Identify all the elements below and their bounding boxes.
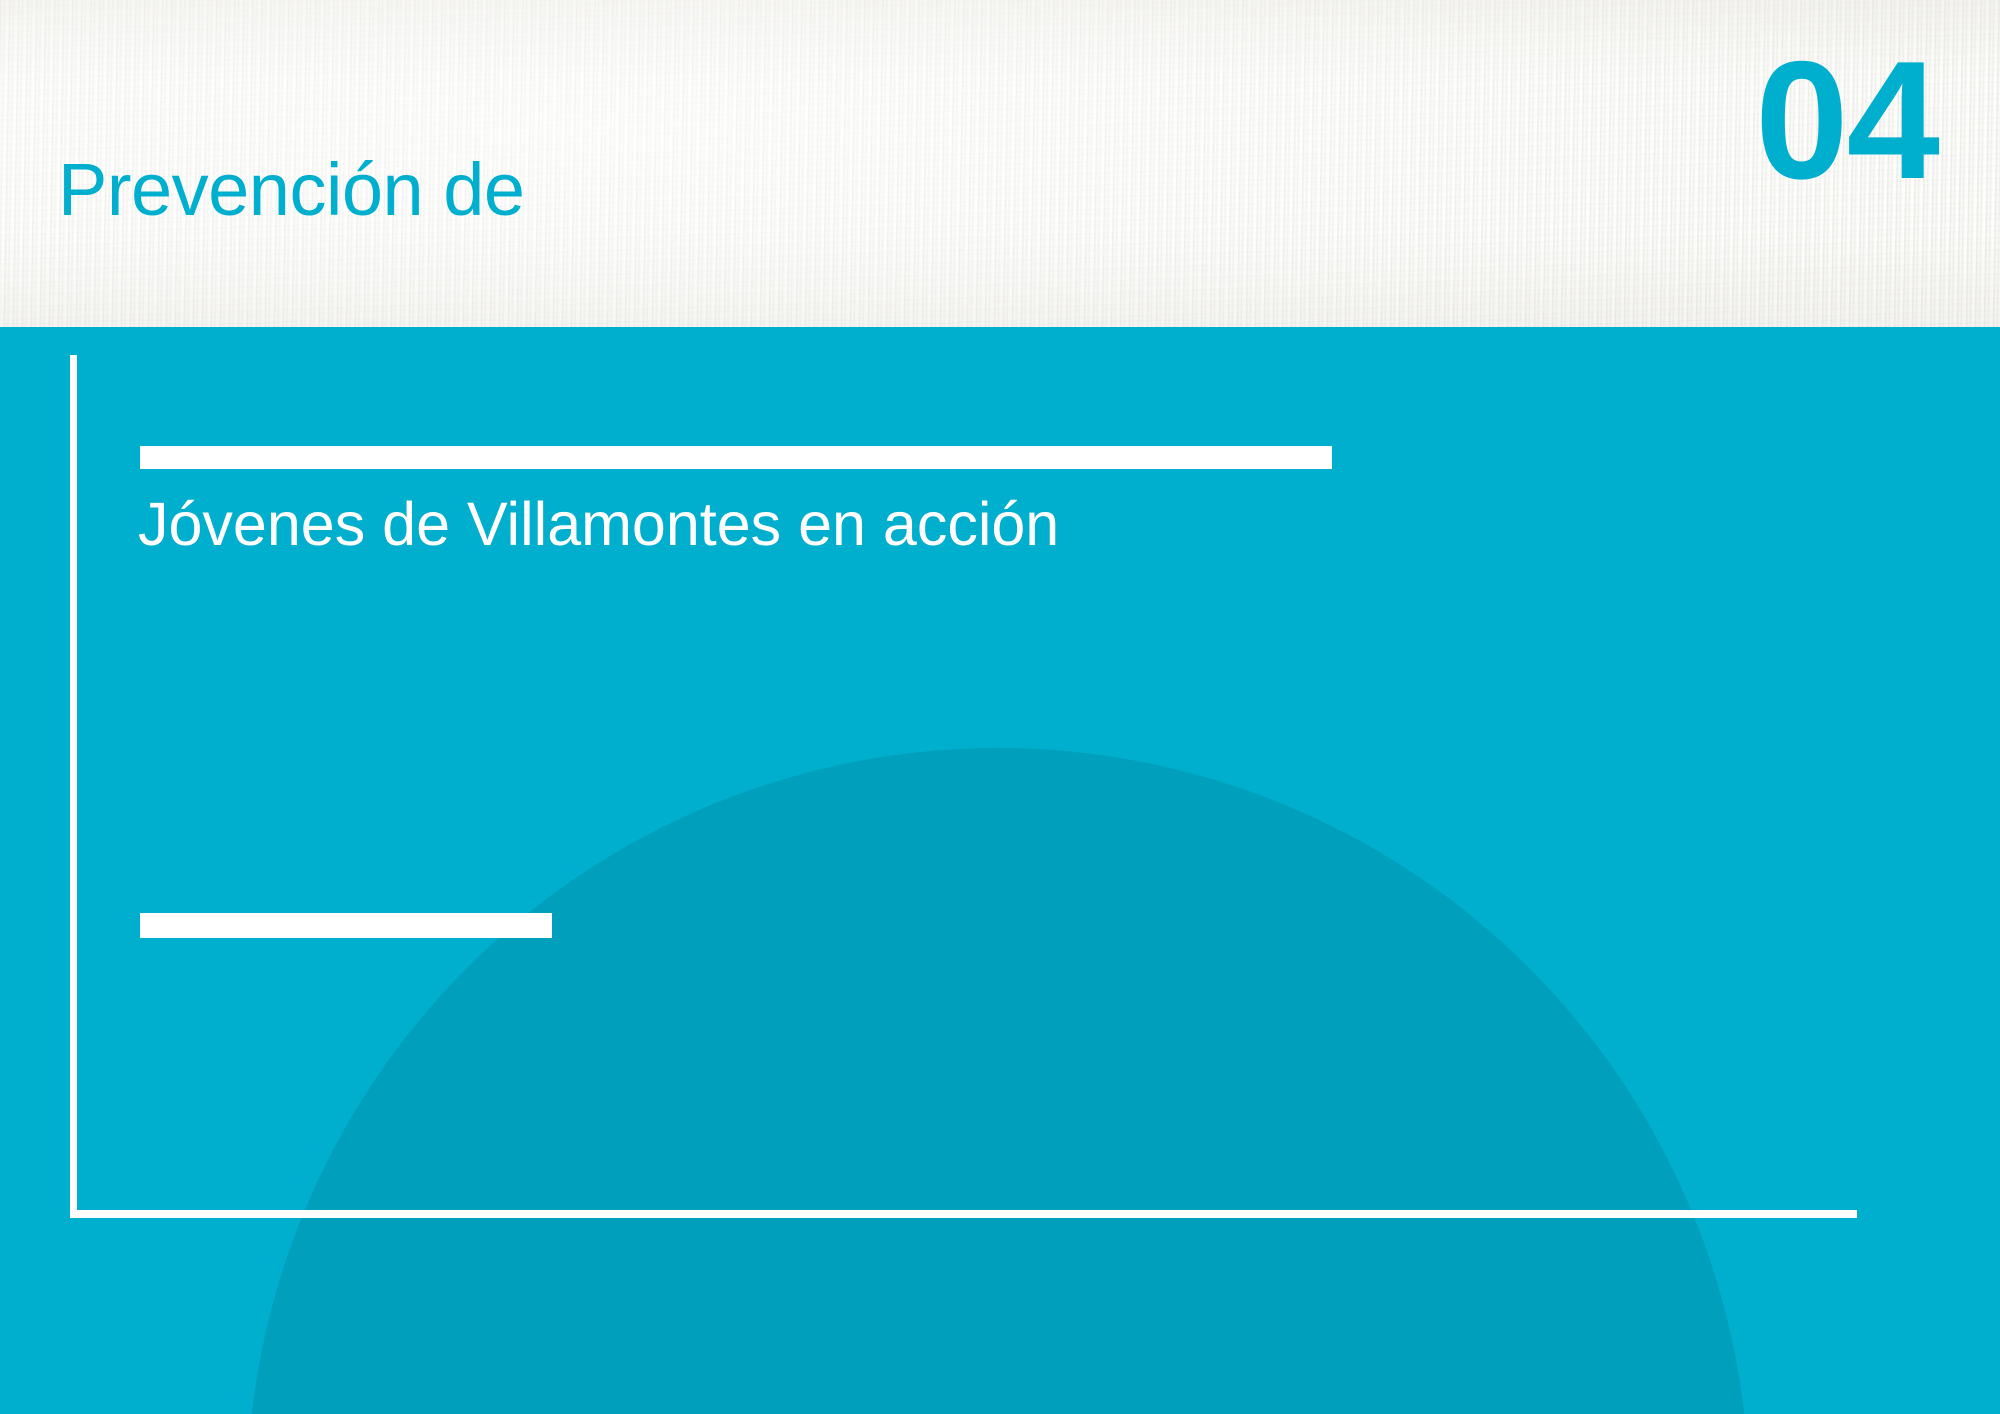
bottom-accent-bar xyxy=(140,913,552,938)
section-subtitle: Jóvenes de Villamontes en acción xyxy=(138,488,1059,561)
slide-canvas: Prevención de la violencia sexual 04 Jóv… xyxy=(0,0,2000,1414)
page-title: Prevención de la violencia sexual xyxy=(58,48,698,327)
page-title-line-1: Prevención de xyxy=(58,143,698,238)
header-band: Prevención de la violencia sexual 04 xyxy=(0,0,2000,327)
background-circle-shape xyxy=(247,748,1749,1414)
section-number: 04 xyxy=(1755,36,1938,204)
top-accent-bar xyxy=(140,446,1332,469)
content-panel: Jóvenes de Villamontes en acción xyxy=(0,327,2000,1414)
horizontal-rule xyxy=(70,1210,1857,1218)
vertical-rule xyxy=(70,355,77,1217)
